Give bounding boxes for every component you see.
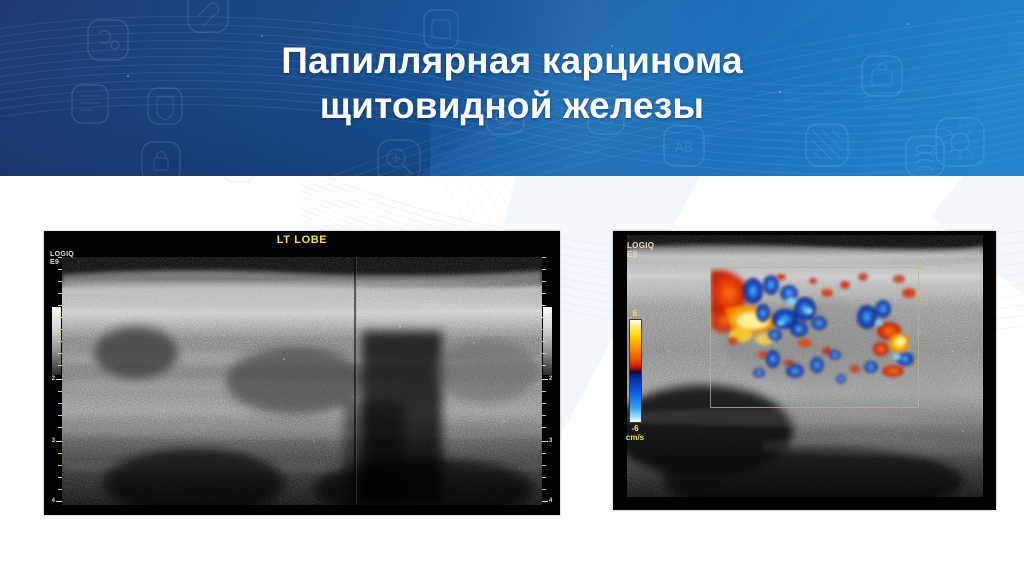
slide-title-line-1: Папиллярная карцинома — [0, 38, 1024, 83]
doppler-scale-units: cm/s — [618, 433, 652, 442]
doppler-scale-min: -6 — [618, 424, 652, 433]
depth-ruler-left: 1 2 3 4 — [47, 257, 63, 505]
doppler-scale-max: 6 — [618, 309, 652, 318]
svg-text:AB: AB — [675, 139, 694, 155]
depth-tick-right-4: 4 — [549, 498, 552, 504]
depth-tick-2: 2 — [52, 376, 55, 382]
slide-title-line-2: щитовидной железы — [0, 83, 1024, 128]
depth-tick-3: 3 — [52, 438, 55, 444]
slide-header-banner: AB — [0, 0, 1024, 176]
bmode-ultrasound-render — [44, 231, 560, 515]
presentation-slide: AB — [0, 0, 1024, 574]
slide-title: Папиллярная карцинома щитовидной железы — [0, 38, 1024, 128]
doppler-ultrasound-render — [613, 231, 996, 510]
ultrasound-image-left-bmode[interactable]: LT LOBE LOGIQ E9 1 2 — [44, 231, 560, 515]
logiq-machine-tag-left: LOGIQ E9 — [50, 251, 74, 267]
depth-tick-right-3: 3 — [549, 438, 552, 444]
logiq-brand-right: LOGIQ — [627, 241, 654, 250]
depth-tick-right-1: 1 — [549, 314, 552, 320]
ultrasound-image-right-doppler[interactable]: LOGIQ E9 6 -6 cm/s — [613, 231, 996, 510]
logiq-brand-left: LOGIQ — [50, 251, 74, 258]
depth-tick-right-2: 2 — [549, 376, 552, 382]
logiq-model-right: E9 — [627, 250, 637, 259]
logiq-model-left: E9 — [50, 259, 59, 266]
logiq-machine-tag-right: LOGIQ E9 — [627, 241, 654, 259]
doppler-velocity-scale: 6 -6 cm/s — [618, 309, 652, 442]
depth-tick-1: 1 — [52, 314, 55, 320]
lt-lobe-caption: LT LOBE — [44, 234, 560, 246]
depth-ruler-right: 1 2 3 4 — [541, 257, 557, 505]
doppler-color-bar — [629, 319, 642, 423]
depth-tick-4: 4 — [52, 498, 55, 504]
